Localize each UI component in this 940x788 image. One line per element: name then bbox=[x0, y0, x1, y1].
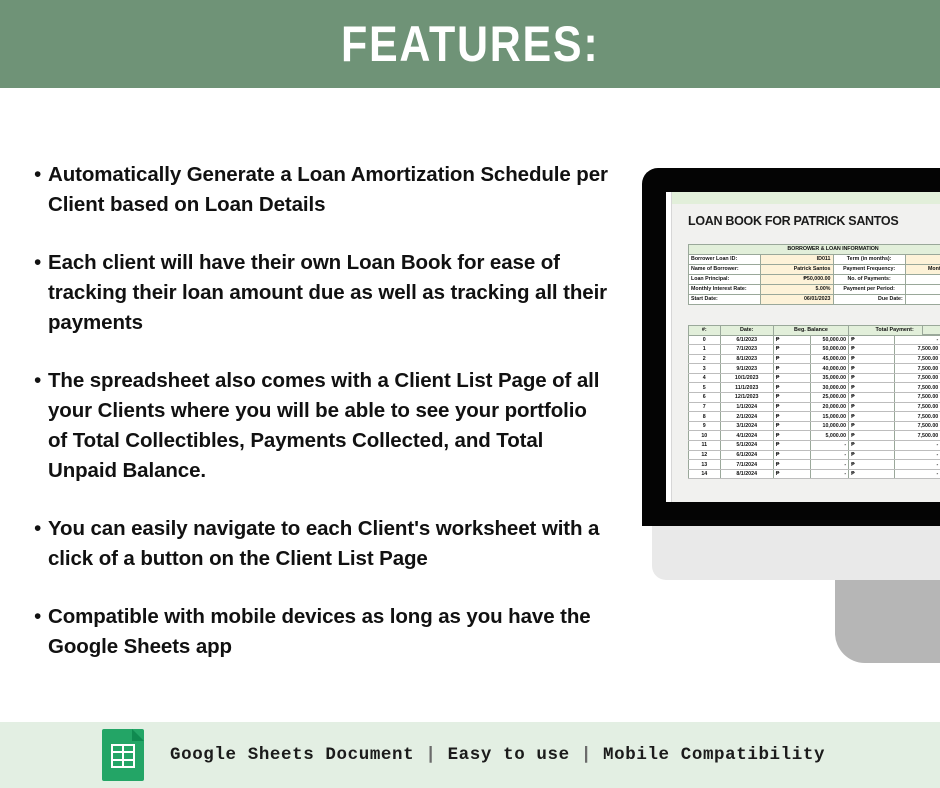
amortization-table: #: Date: Beg. Balance Total Payment: Int… bbox=[688, 325, 940, 479]
cell-date: 1/1/2024 bbox=[720, 402, 773, 412]
table-row: 612/1/2023₱25,000.00₱7,500.00₱2,500.00₱ bbox=[689, 393, 940, 403]
peso-sign-icon: ₱ bbox=[773, 364, 811, 374]
feature-text: Each client will have their own Loan Boo… bbox=[48, 248, 608, 338]
footer-separator: | bbox=[581, 745, 592, 765]
peso-sign-icon: ₱ bbox=[849, 421, 895, 431]
feature-text: Automatically Generate a Loan Amortizati… bbox=[48, 160, 608, 220]
table-row: 82/1/2024₱15,000.00₱7,500.00₱2,500.00₱ bbox=[689, 412, 940, 422]
footer-text: Google Sheets Document | Easy to use | M… bbox=[170, 745, 825, 765]
footer-separator: | bbox=[425, 745, 436, 765]
cell-period-number: 5 bbox=[689, 383, 721, 393]
cell-date: 8/1/2024 bbox=[720, 469, 773, 479]
cell-beginning-balance: 20,000.00 bbox=[811, 402, 849, 412]
peso-sign-icon: ₱ bbox=[849, 402, 895, 412]
cell-beginning-balance: 40,000.00 bbox=[811, 364, 849, 374]
bullet-icon: • bbox=[30, 602, 48, 632]
peso-sign-icon: ₱ bbox=[849, 460, 895, 470]
cell-beginning-balance: 5,000.00 bbox=[811, 431, 849, 441]
cell-period-number: 4 bbox=[689, 373, 721, 383]
table-row: 39/1/2023₱40,000.00₱7,500.00₱2,500.00₱ bbox=[689, 364, 940, 374]
cell-period-number: 1 bbox=[689, 345, 721, 355]
cell-period-number: 9 bbox=[689, 421, 721, 431]
features-list: • Automatically Generate a Loan Amortiza… bbox=[30, 160, 630, 662]
table-row: Borrower Loan ID: ID011 Term (in months)… bbox=[689, 255, 940, 265]
peso-sign-icon: ₱ bbox=[849, 393, 895, 403]
peso-sign-icon: ₱ bbox=[849, 469, 895, 479]
peso-sign-icon: ₱ bbox=[773, 335, 811, 345]
cell-date: 2/1/2024 bbox=[720, 412, 773, 422]
cell-value[interactable]: ID011 bbox=[761, 255, 833, 265]
cell-date: 6/1/2024 bbox=[720, 450, 773, 460]
cell-value[interactable]: Patrick Santos bbox=[761, 265, 833, 275]
cell-label: No. of Payments: bbox=[833, 275, 905, 285]
bullet-icon: • bbox=[30, 514, 48, 544]
peso-sign-icon: ₱ bbox=[849, 383, 895, 393]
cell-total-payment: 7,500.00 bbox=[895, 373, 940, 383]
footer-band: Google Sheets Document | Easy to use | M… bbox=[0, 722, 940, 788]
spreadsheet-content: LOAN BOOK FOR PATRICK SANTOS BORROWER & … bbox=[688, 214, 940, 479]
feature-text: The spreadsheet also comes with a Client… bbox=[48, 366, 608, 486]
peso-sign-icon: ₱ bbox=[773, 469, 811, 479]
table-row: 511/1/2023₱30,000.00₱7,500.00₱2,500.00₱ bbox=[689, 383, 940, 393]
peso-sign-icon: ₱ bbox=[773, 412, 811, 422]
list-item: • You can easily navigate to each Client… bbox=[30, 514, 630, 574]
icon-grid bbox=[111, 744, 135, 768]
column-header-date: Date: bbox=[720, 326, 773, 336]
cell-period-number: 3 bbox=[689, 364, 721, 374]
cell-total-payment: 7,500.00 bbox=[895, 421, 940, 431]
sheet-row-gutter bbox=[666, 192, 672, 502]
cell-value[interactable]: 10 bbox=[905, 255, 940, 265]
cell-beginning-balance: 35,000.00 bbox=[811, 373, 849, 383]
cell-total-payment: 7,500.00 bbox=[895, 412, 940, 422]
cell-date: 8/1/2023 bbox=[720, 354, 773, 364]
cell-label: Loan Principal: bbox=[689, 275, 761, 285]
page-title: FEATURES: bbox=[341, 19, 599, 69]
peso-sign-icon: ₱ bbox=[773, 345, 811, 355]
amortization-rows: 06/1/2023₱50,000.00₱-₱-₱17/1/2023₱50,000… bbox=[689, 335, 940, 479]
cell-period-number: 8 bbox=[689, 412, 721, 422]
monitor-chin bbox=[652, 525, 940, 580]
column-header-number: #: bbox=[689, 326, 721, 336]
table-row: 148/1/2024₱-₱-₱-₱ bbox=[689, 469, 940, 479]
cell-total-payment: 7,500.00 bbox=[895, 431, 940, 441]
cell-total-payment: - bbox=[895, 335, 940, 345]
cell-total-payment: 7,500.00 bbox=[895, 393, 940, 403]
cell-value: 04/01/2024 bbox=[905, 295, 940, 305]
sheet-toolbar-strip bbox=[666, 192, 940, 204]
cell-label: Monthly Interest Rate: bbox=[689, 285, 761, 295]
footer-part-1: Google Sheets Document bbox=[170, 745, 414, 765]
cell-label: Term (in months): bbox=[833, 255, 905, 265]
peso-sign-icon: ₱ bbox=[849, 412, 895, 422]
cell-beginning-balance: 45,000.00 bbox=[811, 354, 849, 364]
cell-total-payment: 7,500.00 bbox=[895, 402, 940, 412]
cell-label: Name of Borrower: bbox=[689, 265, 761, 275]
cell-period-number: 2 bbox=[689, 354, 721, 364]
cell-period-number: 10 bbox=[689, 431, 721, 441]
cell-beginning-balance: 50,000.00 bbox=[811, 345, 849, 355]
cell-total-payment: - bbox=[895, 450, 940, 460]
peso-sign-icon: ₱ bbox=[773, 383, 811, 393]
cell-label: Start Date: bbox=[689, 295, 761, 305]
peso-sign-icon: ₱ bbox=[773, 393, 811, 403]
bullet-icon: • bbox=[30, 160, 48, 190]
cell-date: 12/1/2023 bbox=[720, 393, 773, 403]
footer-part-2: Easy to use bbox=[448, 745, 570, 765]
monitor-screen: LOAN BOOK FOR PATRICK SANTOS BORROWER & … bbox=[666, 192, 940, 502]
table-row: 17/1/2023₱50,000.00₱7,500.00₱2,500.00₱ bbox=[689, 345, 940, 355]
icon-fold bbox=[132, 729, 144, 741]
google-sheets-icon bbox=[102, 729, 144, 781]
cell-beginning-balance: - bbox=[811, 441, 849, 451]
table-row: Start Date: 06/01/2023 Due Date: 04/01/2… bbox=[689, 295, 940, 305]
peso-sign-icon: ₱ bbox=[773, 450, 811, 460]
peso-sign-icon: ₱ bbox=[849, 345, 895, 355]
cell-value: ₱7,500.00 bbox=[905, 285, 940, 295]
table-row: 93/1/2024₱10,000.00₱7,500.00₱2,500.00₱ bbox=[689, 421, 940, 431]
cell-beginning-balance: 30,000.00 bbox=[811, 383, 849, 393]
table-row: BORROWER & LOAN INFORMATION bbox=[689, 245, 940, 255]
peso-sign-icon: ₱ bbox=[773, 431, 811, 441]
amortization-section: Breakdown of Total #: Date: Beg. Balance… bbox=[688, 325, 940, 479]
cell-date: 6/1/2023 bbox=[720, 335, 773, 345]
cell-date: 11/1/2023 bbox=[720, 383, 773, 393]
table-row: 06/1/2023₱50,000.00₱-₱-₱ bbox=[689, 335, 940, 345]
cell-period-number: 14 bbox=[689, 469, 721, 479]
cell-period-number: 11 bbox=[689, 441, 721, 451]
peso-sign-icon: ₱ bbox=[849, 431, 895, 441]
cell-beginning-balance: 15,000.00 bbox=[811, 412, 849, 422]
cell-beginning-balance: - bbox=[811, 469, 849, 479]
table-row: Loan Principal: ₱50,000.00 No. of Paymen… bbox=[689, 275, 940, 285]
cell-total-payment: - bbox=[895, 441, 940, 451]
table-row: 104/1/2024₱5,000.00₱7,500.00₱2,500.00₱ bbox=[689, 431, 940, 441]
table-row: Name of Borrower: Patrick Santos Payment… bbox=[689, 265, 940, 275]
peso-sign-icon: ₱ bbox=[849, 450, 895, 460]
list-item: • Compatible with mobile devices as long… bbox=[30, 602, 630, 662]
borrower-info-table: BORROWER & LOAN INFORMATION Borrower Loa… bbox=[688, 244, 940, 305]
cell-beginning-balance: 50,000.00 bbox=[811, 335, 849, 345]
cell-label: Payment per Period: bbox=[833, 285, 905, 295]
header-band: FEATURES: bbox=[0, 0, 940, 88]
cell-value[interactable]: ₱50,000.00 bbox=[761, 275, 833, 285]
cell-date: 7/1/2024 bbox=[720, 460, 773, 470]
dropdown-value: Monthly bbox=[928, 266, 940, 272]
cell-date: 9/1/2023 bbox=[720, 364, 773, 374]
cell-beginning-balance: - bbox=[811, 450, 849, 460]
table-row: 410/1/2023₱35,000.00₱7,500.00₱2,500.00₱ bbox=[689, 373, 940, 383]
cell-total-payment: 7,500.00 bbox=[895, 383, 940, 393]
cell-label: Due Date: bbox=[833, 295, 905, 305]
table-row: 28/1/2023₱45,000.00₱7,500.00₱2,500.00₱ bbox=[689, 354, 940, 364]
list-item: • The spreadsheet also comes with a Clie… bbox=[30, 366, 630, 486]
cell-beginning-balance: 25,000.00 bbox=[811, 393, 849, 403]
cell-label: Borrower Loan ID: bbox=[689, 255, 761, 265]
peso-sign-icon: ₱ bbox=[849, 354, 895, 364]
bullet-icon: • bbox=[30, 366, 48, 396]
cell-value[interactable]: 06/01/2023 bbox=[761, 295, 833, 305]
monitor-mockup: LOAN BOOK FOR PATRICK SANTOS BORROWER & … bbox=[642, 168, 940, 588]
peso-sign-icon: ₱ bbox=[849, 373, 895, 383]
column-header-balance: Beg. Balance bbox=[773, 326, 848, 336]
cell-date: 10/1/2023 bbox=[720, 373, 773, 383]
peso-sign-icon: ₱ bbox=[773, 441, 811, 451]
bullet-icon: • bbox=[30, 248, 48, 278]
cell-date: 4/1/2024 bbox=[720, 431, 773, 441]
peso-sign-icon: ₱ bbox=[773, 460, 811, 470]
peso-sign-icon: ₱ bbox=[773, 421, 811, 431]
cell-total-payment: - bbox=[895, 460, 940, 470]
cell-total-payment: 7,500.00 bbox=[895, 364, 940, 374]
peso-sign-icon: ₱ bbox=[849, 441, 895, 451]
feature-text: You can easily navigate to each Client's… bbox=[48, 514, 608, 574]
cell-value[interactable]: 5.00% bbox=[761, 285, 833, 295]
table-row: 71/1/2024₱20,000.00₱7,500.00₱2,500.00₱ bbox=[689, 402, 940, 412]
cell-period-number: 6 bbox=[689, 393, 721, 403]
breakdown-group-header: Breakdown of Total bbox=[922, 325, 940, 335]
cell-date: 5/1/2024 bbox=[720, 441, 773, 451]
table-header-row: #: Date: Beg. Balance Total Payment: Int… bbox=[689, 326, 940, 336]
cell-total-payment: 7,500.00 bbox=[895, 345, 940, 355]
info-table-header: BORROWER & LOAN INFORMATION bbox=[689, 245, 940, 255]
table-row: 115/1/2024₱-₱-₱-₱ bbox=[689, 441, 940, 451]
footer-part-3: Mobile Compatibility bbox=[603, 745, 825, 765]
peso-sign-icon: ₱ bbox=[849, 335, 895, 345]
slide-canvas: FEATURES: • Automatically Generate a Loa… bbox=[0, 0, 940, 788]
cell-label: Payment Frequency: bbox=[833, 265, 905, 275]
table-row: 126/1/2024₱-₱-₱-₱ bbox=[689, 450, 940, 460]
table-row: Monthly Interest Rate: 5.00% Payment per… bbox=[689, 285, 940, 295]
list-item: • Each client will have their own Loan B… bbox=[30, 248, 630, 338]
cell-total-payment: - bbox=[895, 469, 940, 479]
cell-value: 10 bbox=[905, 275, 940, 285]
peso-sign-icon: ₱ bbox=[773, 402, 811, 412]
peso-sign-icon: ₱ bbox=[773, 373, 811, 383]
table-row: 137/1/2024₱-₱-₱-₱ bbox=[689, 460, 940, 470]
feature-text: Compatible with mobile devices as long a… bbox=[48, 602, 608, 662]
cell-beginning-balance: 10,000.00 bbox=[811, 421, 849, 431]
spreadsheet-title: LOAN BOOK FOR PATRICK SANTOS bbox=[688, 214, 940, 228]
cell-total-payment: 7,500.00 bbox=[895, 354, 940, 364]
cell-beginning-balance: - bbox=[811, 460, 849, 470]
list-item: • Automatically Generate a Loan Amortiza… bbox=[30, 160, 630, 220]
cell-date: 3/1/2024 bbox=[720, 421, 773, 431]
monitor-stand bbox=[835, 578, 940, 663]
cell-period-number: 12 bbox=[689, 450, 721, 460]
cell-period-number: 13 bbox=[689, 460, 721, 470]
cell-period-number: 0 bbox=[689, 335, 721, 345]
payment-frequency-dropdown[interactable]: Monthly▾ bbox=[905, 265, 940, 275]
peso-sign-icon: ₱ bbox=[773, 354, 811, 364]
monitor-bezel: LOAN BOOK FOR PATRICK SANTOS BORROWER & … bbox=[642, 168, 940, 526]
peso-sign-icon: ₱ bbox=[849, 364, 895, 374]
cell-period-number: 7 bbox=[689, 402, 721, 412]
cell-date: 7/1/2023 bbox=[720, 345, 773, 355]
